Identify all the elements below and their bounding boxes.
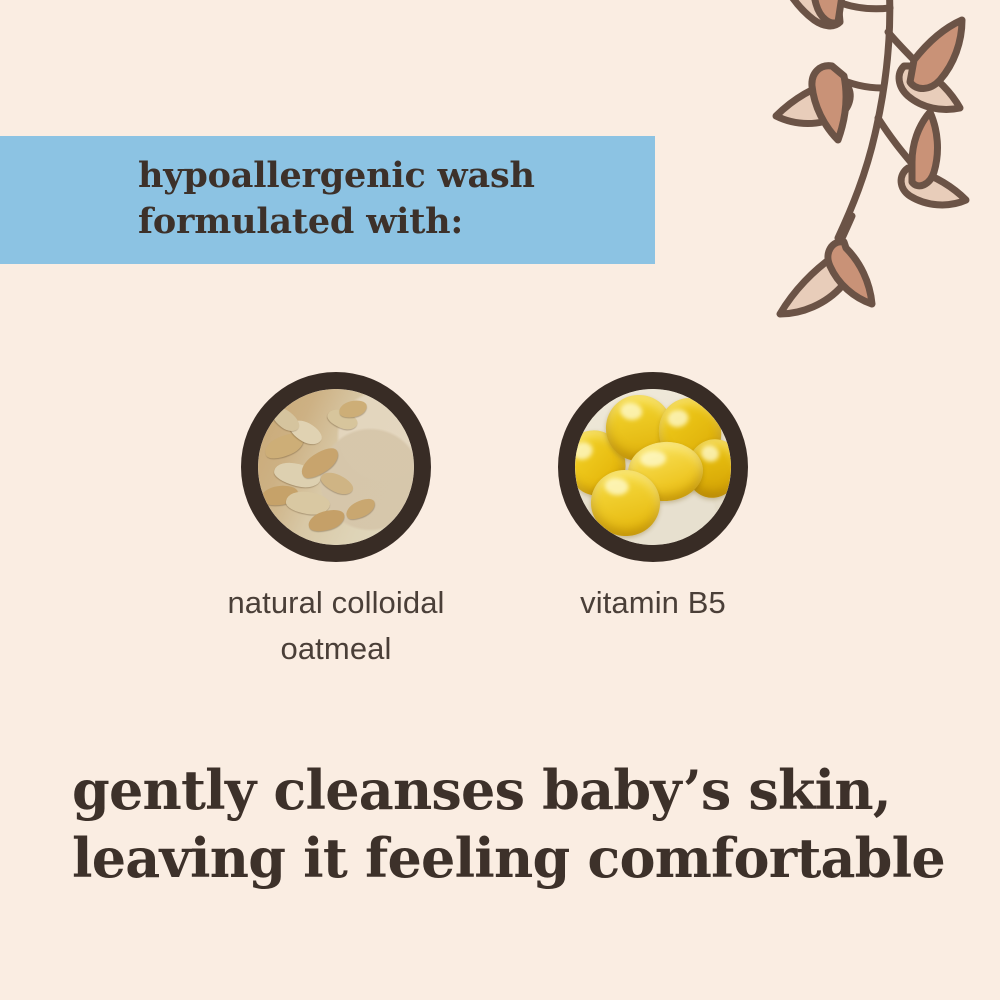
colloidal-oatmeal-photo bbox=[258, 389, 414, 545]
vitamin-b5-capsules-photo bbox=[575, 389, 731, 545]
ingredient-vitamin-b5: vitamin B5 bbox=[523, 372, 783, 626]
ingredient-oatmeal: natural colloidal oatmeal bbox=[206, 372, 466, 672]
infographic-canvas: hypoallergenic wash formulated with: bbox=[0, 0, 1000, 1000]
banner-title: hypoallergenic wash formulated with: bbox=[138, 153, 638, 245]
ingredient-vitamin-b5-caption: vitamin B5 bbox=[523, 580, 783, 626]
vitamin-b5-circle-frame bbox=[558, 372, 748, 562]
oat-branch-illustration bbox=[742, 0, 1000, 334]
page-headline: gently cleanses baby’s skin, leaving it … bbox=[72, 756, 972, 892]
oatmeal-circle-frame bbox=[241, 372, 431, 562]
ingredients-row: natural colloidal oatmeal vitamin B5 bbox=[0, 372, 1000, 672]
ingredient-oatmeal-caption: natural colloidal oatmeal bbox=[206, 580, 466, 672]
headline-banner: hypoallergenic wash formulated with: bbox=[0, 136, 655, 264]
